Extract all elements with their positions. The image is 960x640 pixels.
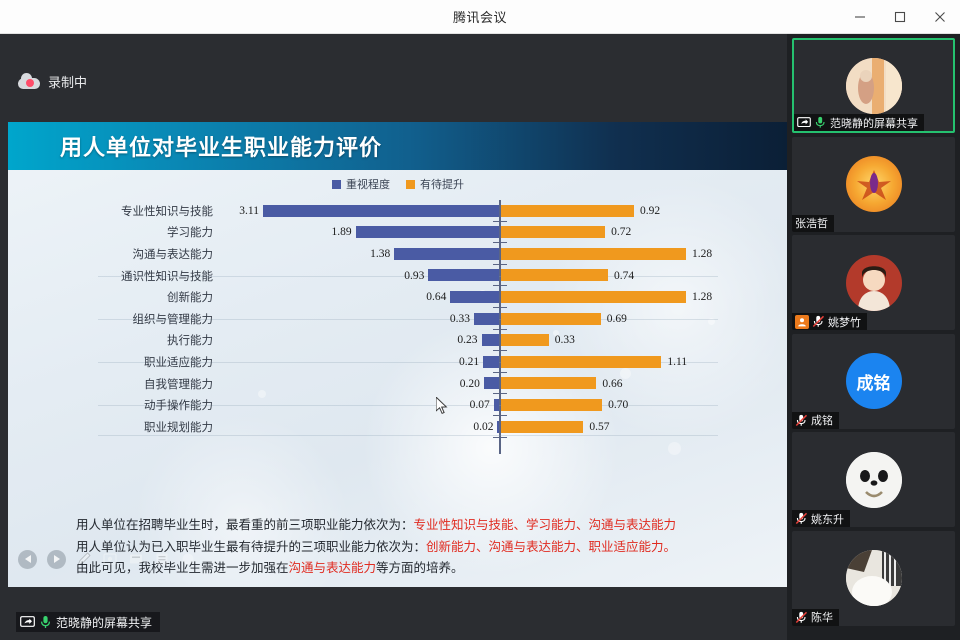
legend-swatch-blue	[332, 180, 341, 189]
microphone-icon	[40, 615, 51, 629]
chart-value-improvement: 0.66	[602, 378, 648, 390]
chart-category-label: 自我管理能力	[18, 376, 213, 392]
participant-name-bar: 姚东升	[792, 510, 850, 527]
avatar	[846, 452, 902, 508]
participant-name: 陈华	[811, 609, 833, 625]
slide-icon[interactable]	[128, 551, 144, 567]
chart-row: 职业规划能力0.020.57	[18, 416, 778, 438]
chart-value-importance: 0.64	[406, 291, 446, 303]
microphone-muted-icon	[795, 611, 808, 624]
screen-share-icon	[797, 117, 811, 129]
shared-screen-area[interactable]: 用人单位对毕业生职业能力评价 重视程度 有待提升	[8, 34, 787, 640]
recording-indicator: 录制中	[18, 72, 87, 91]
chart-row: 动手操作能力0.070.70	[18, 394, 778, 416]
participant-name: 成铭	[811, 412, 833, 428]
chart-bar-importance	[484, 377, 499, 389]
host-badge-icon	[795, 315, 809, 329]
chart-value-importance: 0.33	[430, 313, 470, 325]
participant-tile[interactable]: 张浩哲	[792, 137, 955, 232]
window-title: 腾讯会议	[453, 7, 507, 26]
chart-value-improvement: 1.28	[692, 291, 738, 303]
microphone-on-icon	[814, 116, 827, 129]
highlighted-text: 沟通与表达能力	[289, 561, 377, 575]
avatar	[846, 550, 902, 606]
chart-category-label: 学习能力	[18, 224, 213, 240]
chart-category-label: 组织与管理能力	[18, 311, 213, 327]
chart-row: 通识性知识与技能0.930.74	[18, 265, 778, 287]
chart-category-label: 职业规划能力	[18, 419, 213, 435]
chart-category-label: 通识性知识与技能	[18, 268, 213, 284]
chart-bar-importance	[263, 205, 499, 217]
chart-bar-improvement	[501, 226, 605, 238]
chart-value-improvement: 0.69	[607, 313, 653, 325]
window-titlebar: 腾讯会议	[0, 0, 960, 34]
chart-row: 自我管理能力0.200.66	[18, 373, 778, 395]
participant-name-bar: 姚梦竹	[792, 313, 867, 330]
tencent-meeting-window: 腾讯会议 录制中	[0, 0, 960, 640]
chart-row: 组织与管理能力0.330.69	[18, 308, 778, 330]
chart-bar-importance	[474, 313, 499, 325]
participant-panel[interactable]: 范晓静的屏幕共享张浩哲姚梦竹成铭成铭姚东升陈华	[787, 34, 960, 640]
chart-bar-importance	[497, 421, 499, 433]
chart-value-improvement: 0.33	[555, 334, 601, 346]
window-controls	[840, 0, 960, 34]
slide-title: 用人单位对毕业生职业能力评价	[60, 130, 382, 162]
presentation-toolbar[interactable]	[18, 542, 196, 576]
participant-name: 张浩哲	[795, 215, 828, 231]
microphone-muted-icon	[795, 414, 808, 427]
chart-bar-importance	[394, 248, 499, 260]
chart-value-improvement: 1.11	[667, 356, 713, 368]
participant-name: 姚东升	[811, 511, 844, 527]
chart-bar-importance	[356, 226, 499, 238]
chart-value-importance: 1.89	[312, 226, 352, 238]
microphone-muted-icon	[812, 315, 825, 328]
legend-item-improvement: 有待提升	[406, 176, 464, 192]
chart-value-importance: 1.38	[350, 248, 390, 260]
chart-bar-improvement	[501, 399, 602, 411]
chart-value-improvement: 0.74	[614, 270, 660, 282]
next-slide-button[interactable]	[47, 550, 66, 569]
chart-bar-improvement	[501, 269, 608, 281]
plain-text: 等方面的培养。	[376, 561, 464, 575]
capability-evaluation-chart: 重视程度 有待提升 专业性知识与技能3.110.92学习能力1.890.72沟通…	[18, 174, 778, 474]
chart-bar-importance	[450, 291, 499, 303]
chart-value-improvement: 1.28	[692, 248, 738, 260]
highlighted-text: 专业性知识与技能、学习能力、沟通与表达能力	[414, 518, 677, 532]
chart-legend: 重视程度 有待提升	[18, 174, 778, 194]
avatar	[846, 255, 902, 311]
participant-tile[interactable]: 姚东升	[792, 432, 955, 527]
recording-label: 录制中	[48, 72, 87, 91]
cloud-record-icon	[18, 75, 40, 89]
participant-tile[interactable]: 成铭成铭	[792, 334, 955, 429]
note-icon[interactable]	[154, 551, 170, 567]
avatar	[846, 58, 902, 114]
legend-swatch-orange	[406, 180, 415, 189]
chart-bar-importance	[494, 399, 499, 411]
slide-title-band: 用人单位对毕业生职业能力评价	[8, 122, 787, 170]
minimize-button[interactable]	[840, 0, 880, 34]
prev-slide-button[interactable]	[18, 550, 37, 569]
chart-bar-improvement	[501, 334, 549, 346]
chart-value-improvement: 0.72	[611, 226, 657, 238]
laser-pointer-icon[interactable]	[102, 551, 118, 567]
plain-text: 用人单位在招聘毕业生时，最看重的前三项职业能力依次为：	[76, 518, 414, 532]
share-owner-name: 范晓静的屏幕共享	[56, 614, 152, 631]
participant-tile[interactable]: 姚梦竹	[792, 235, 955, 330]
chart-bar-importance	[482, 334, 499, 346]
chart-row: 创新能力0.641.28	[18, 286, 778, 308]
chart-plot-area: 专业性知识与技能3.110.92学习能力1.890.72沟通与表达能力1.381…	[18, 196, 778, 464]
pen-icon[interactable]	[76, 551, 92, 567]
participant-tile[interactable]: 陈华	[792, 531, 955, 626]
chart-bar-improvement	[501, 421, 583, 433]
chart-bar-importance	[483, 356, 499, 368]
chart-row: 专业性知识与技能3.110.92	[18, 200, 778, 222]
screen-share-icon	[20, 616, 35, 629]
chart-row: 沟通与表达能力1.381.28	[18, 243, 778, 265]
slide-paragraph: 用人单位在招聘毕业生时，最看重的前三项职业能力依次为：专业性知识与技能、学习能力…	[76, 515, 776, 537]
participant-name-bar: 陈华	[792, 609, 839, 626]
chart-bar-improvement	[501, 291, 686, 303]
highlighted-text: 创新能力、沟通与表达能力、职业适应能力。	[426, 540, 676, 554]
chart-category-label: 动手操作能力	[18, 397, 213, 413]
chart-bar-improvement	[501, 356, 661, 368]
chart-bar-improvement	[501, 313, 601, 325]
share-owner-label: 范晓静的屏幕共享	[16, 612, 160, 632]
avatar: 成铭	[846, 353, 902, 409]
chart-bar-improvement	[501, 248, 686, 260]
chart-value-improvement: 0.57	[589, 421, 635, 433]
chart-value-importance: 0.21	[439, 356, 479, 368]
chart-bar-importance	[428, 269, 499, 281]
chart-value-importance: 0.02	[453, 421, 493, 433]
legend-label-importance: 重视程度	[346, 176, 390, 192]
maximize-button[interactable]	[880, 0, 920, 34]
chart-value-improvement: 0.92	[640, 205, 686, 217]
meeting-stage: 录制中 用人单位对毕业生职业能力评价	[0, 34, 960, 640]
chart-category-label: 创新能力	[18, 289, 213, 305]
chart-bar-improvement	[501, 205, 634, 217]
chart-value-importance: 0.07	[450, 399, 490, 411]
chart-category-label: 专业性知识与技能	[18, 203, 213, 219]
legend-item-importance: 重视程度	[332, 176, 390, 192]
presentation-slide[interactable]: 用人单位对毕业生职业能力评价 重视程度 有待提升	[8, 122, 787, 587]
chart-value-improvement: 0.70	[608, 399, 654, 411]
avatar	[846, 156, 902, 212]
chart-row: 执行能力0.230.33	[18, 330, 778, 352]
participant-name-bar: 成铭	[792, 412, 839, 429]
participant-name: 范晓静的屏幕共享	[830, 115, 918, 131]
chart-value-importance: 0.23	[438, 334, 478, 346]
participant-name: 姚梦竹	[828, 314, 861, 330]
chart-row: 学习能力1.890.72	[18, 222, 778, 244]
chart-category-label: 职业适应能力	[18, 354, 213, 370]
chart-value-importance: 3.11	[219, 205, 259, 217]
chart-value-importance: 0.93	[384, 270, 424, 282]
chart-row: 职业适应能力0.211.11	[18, 351, 778, 373]
chart-value-importance: 0.20	[440, 378, 480, 390]
legend-label-improvement: 有待提升	[420, 176, 464, 192]
participant-name-bar: 张浩哲	[792, 215, 834, 232]
mouse-cursor	[436, 397, 448, 415]
chart-bar-improvement	[501, 377, 596, 389]
eraser-icon[interactable]	[180, 551, 196, 567]
chart-category-label: 沟通与表达能力	[18, 246, 213, 262]
close-button[interactable]	[920, 0, 960, 34]
participant-tile[interactable]: 范晓静的屏幕共享	[792, 38, 955, 133]
microphone-muted-icon	[795, 512, 808, 525]
participant-name-bar: 范晓静的屏幕共享	[794, 114, 924, 131]
chart-category-label: 执行能力	[18, 332, 213, 348]
